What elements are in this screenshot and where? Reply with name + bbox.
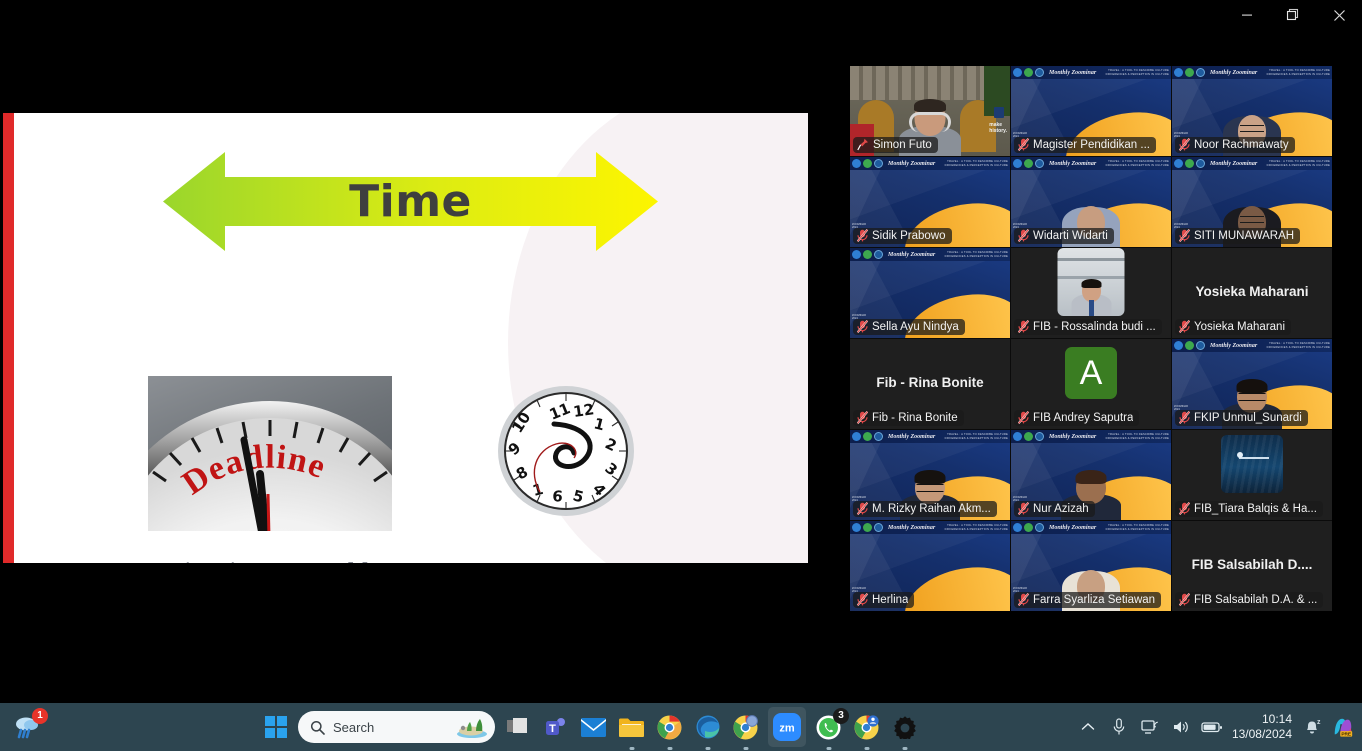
- participant-name-text: Yosieka Maharani: [1194, 321, 1285, 333]
- participant-name-label: Magister Pendidikan ...: [1014, 137, 1156, 153]
- participant-name-text: Widarti Widarti: [1033, 230, 1108, 242]
- participant-name-text: Herlina: [872, 594, 908, 606]
- virtual-bg-tagline: TRAVEL : A TOOL TO DESCRIBE CULTUREDIFFE…: [1267, 69, 1330, 76]
- mic-off-icon: [1179, 320, 1190, 333]
- chrome-account-icon[interactable]: [851, 712, 882, 743]
- mic-off-icon: [1018, 502, 1029, 515]
- participant-name-text: SITI MUNAWARAH: [1194, 230, 1294, 242]
- virtual-bg-title: Monthly Zoominar: [1210, 161, 1257, 167]
- participant-name-text: Noor Rachmawaty: [1194, 139, 1289, 151]
- participant-name-label: Sidik Prabowo: [853, 228, 952, 244]
- running-indicator: [902, 747, 907, 750]
- participant-name-label: FIB Andrey Saputra: [1014, 410, 1139, 426]
- svg-text:zm: zm: [779, 723, 795, 735]
- vbg-swoosh-orange: [897, 556, 1010, 611]
- file-explorer-icon[interactable]: [616, 712, 647, 743]
- participant-name-text: Magister Pendidikan ...: [1033, 139, 1150, 151]
- virtual-bg-logos: [1013, 159, 1044, 168]
- mail-icon[interactable]: [578, 712, 609, 743]
- whatsapp-icon[interactable]: 3: [813, 712, 844, 743]
- virtual-bg-logos: [852, 250, 883, 259]
- running-indicator: [826, 747, 831, 750]
- participant-name-text: FIB - Rossalinda budi ...: [1033, 321, 1156, 333]
- virtual-bg-header: Monthly Zoominar TRAVEL : A TOOL TO DESC…: [850, 521, 1010, 534]
- participant-name-label: M. Rizky Raihan Akm...: [853, 501, 997, 517]
- running-indicator: [667, 747, 672, 750]
- org-logo-icon-3: [1196, 159, 1205, 168]
- org-logo-icon-2: [863, 159, 872, 168]
- org-logo-icon-1: [852, 432, 861, 441]
- org-logo-icon-2: [1024, 432, 1033, 441]
- participant-tile[interactable]: ZOOMINAR2024 Monthly Zoominar TRAVEL : A…: [1011, 430, 1171, 520]
- virtual-bg-header: Monthly Zoominar TRAVEL : A TOOL TO DESC…: [1172, 157, 1332, 170]
- running-indicator: [743, 747, 748, 750]
- org-logo-icon-2: [863, 432, 872, 441]
- running-indicator: [864, 747, 869, 750]
- search-illustration-icon: [453, 715, 489, 739]
- mic-off-icon: [857, 411, 868, 424]
- svg-text:6: 6: [552, 487, 564, 506]
- org-logo-icon-2: [1024, 159, 1033, 168]
- org-logo-icon-2: [1185, 341, 1194, 350]
- taskbar-widgets: 1: [0, 703, 260, 751]
- virtual-bg-title: Monthly Zoominar: [888, 252, 935, 258]
- virtual-bg-title: Monthly Zoominar: [1049, 70, 1096, 76]
- virtual-bg-tagline: TRAVEL : A TOOL TO DESCRIBE CULTUREDIFFE…: [1106, 433, 1169, 440]
- virtual-bg-header: Monthly Zoominar TRAVEL : A TOOL TO DESC…: [1011, 430, 1171, 443]
- participant-name-label: Widarti Widarti: [1014, 228, 1114, 244]
- zoom-icon[interactable]: zm: [768, 707, 806, 747]
- chrome-profile-icon[interactable]: [730, 712, 761, 743]
- virtual-bg-title: Monthly Zoominar: [888, 161, 935, 167]
- mic-off-icon: [857, 593, 868, 606]
- virtual-bg-title: Monthly Zoominar: [1049, 434, 1096, 440]
- svg-text:PRE: PRE: [1341, 732, 1351, 738]
- slide-red-accent-bar: [3, 113, 14, 563]
- mic-off-icon: [1179, 411, 1190, 424]
- mic-off-icon: [857, 320, 868, 333]
- org-logo-icon-1: [1174, 341, 1183, 350]
- participant-tile[interactable]: FIB_Tiara Balqis & Ha...: [1172, 430, 1332, 520]
- org-logo-icon-3: [1035, 159, 1044, 168]
- chrome-icon[interactable]: [654, 712, 685, 743]
- virtual-bg-logos: [1174, 341, 1205, 350]
- participant-name-label: Farra Syarliza Setiawan: [1014, 592, 1161, 608]
- participant-avatar: A: [1065, 347, 1117, 399]
- mic-off-icon: [1018, 138, 1029, 151]
- participant-name-label: FIB Salsabilah D.A. & ...: [1175, 592, 1323, 608]
- org-logo-icon-2: [1024, 68, 1033, 77]
- weather-badge: 1: [32, 708, 48, 724]
- clock-date: 13/08/2024: [1232, 727, 1292, 742]
- edge-icon[interactable]: [692, 712, 723, 743]
- org-logo-icon-1: [852, 523, 861, 532]
- participant-display-name: Yosieka Maharani: [1172, 284, 1332, 299]
- system-tray: 10:14 13/08/2024 z PRE: [1077, 712, 1354, 742]
- participant-name-text: Sella Ayu Nindya: [872, 321, 959, 333]
- mic-off-icon: [857, 229, 868, 242]
- virtual-bg-title: Monthly Zoominar: [888, 434, 935, 440]
- org-logo-icon-1: [1013, 432, 1022, 441]
- participant-tile[interactable]: ZOOMINAR2024 Monthly Zoominar TRAVEL : A…: [1011, 521, 1171, 611]
- start-icon[interactable]: [260, 712, 291, 743]
- virtual-bg-tagline: TRAVEL : A TOOL TO DESCRIBE CULTUREDIFFE…: [945, 524, 1008, 531]
- restore-icon[interactable]: [1270, 1, 1316, 29]
- participant-tile[interactable]: ZOOMINAR2024 Monthly Zoominar TRAVEL : A…: [1011, 157, 1171, 247]
- virtual-bg-header: Monthly Zoominar TRAVEL : A TOOL TO DESC…: [850, 430, 1010, 443]
- virtual-bg-header: Monthly Zoominar TRAVEL : A TOOL TO DESC…: [1011, 521, 1171, 534]
- mic-off-icon: [857, 502, 868, 515]
- org-logo-icon-2: [863, 523, 872, 532]
- virtual-bg-logos: [852, 159, 883, 168]
- org-logo-icon-2: [1185, 159, 1194, 168]
- org-logo-icon-3: [874, 159, 883, 168]
- org-logo-icon-3: [874, 432, 883, 441]
- windows-taskbar: 1 Search: [0, 703, 1362, 751]
- virtual-bg-title: Monthly Zoominar: [1210, 70, 1257, 76]
- participant-tile[interactable]: ZOOMINAR2024 Monthly Zoominar TRAVEL : A…: [1011, 66, 1171, 156]
- org-logo-icon-3: [1196, 68, 1205, 77]
- virtual-bg-logos: [1174, 68, 1205, 77]
- participant-tile[interactable]: makehistory. Simon Futo: [850, 66, 1010, 156]
- svg-text:12: 12: [572, 400, 595, 421]
- virtual-bg-logos: [1013, 523, 1044, 532]
- settings-icon[interactable]: [889, 712, 920, 743]
- participant-tile[interactable]: ZOOMINAR2024 Monthly Zoominar TRAVEL : A…: [1172, 339, 1332, 429]
- participant-name-text: FIB Andrey Saputra: [1033, 412, 1133, 424]
- participant-tile[interactable]: FIB - Rossalinda budi ...: [1011, 248, 1171, 338]
- org-logo-icon-3: [1196, 341, 1205, 350]
- participant-tile[interactable]: FIB Salsabilah D.... FIB Salsabilah D.A.…: [1172, 521, 1332, 611]
- virtual-bg-header: Monthly Zoominar TRAVEL : A TOOL TO DESC…: [1011, 157, 1171, 170]
- participant-tile[interactable]: ZOOMINAR2024 Monthly Zoominar TRAVEL : A…: [1172, 157, 1332, 247]
- participant-name-label: Simon Futo: [853, 137, 938, 153]
- mic-off-icon: [1179, 229, 1190, 242]
- window-controls: [1210, 0, 1362, 30]
- virtual-bg-tagline: TRAVEL : A TOOL TO DESCRIBE CULTUREDIFFE…: [945, 251, 1008, 258]
- network-icon[interactable]: [1139, 716, 1161, 738]
- participant-name-text: Nur Azizah: [1033, 503, 1089, 515]
- participant-tile[interactable]: Fib - Rina Bonite Fib - Rina Bonite: [850, 339, 1010, 429]
- virtual-bg-header: Monthly Zoominar TRAVEL : A TOOL TO DESC…: [850, 157, 1010, 170]
- participant-tile[interactable]: Yosieka Maharani Yosieka Maharani: [1172, 248, 1332, 338]
- close-icon[interactable]: [1316, 1, 1362, 29]
- taskbar-app-icons: Search T: [260, 707, 920, 747]
- virtual-bg-title: Monthly Zoominar: [1049, 525, 1096, 531]
- org-logo-icon-1: [1013, 159, 1022, 168]
- notification-bell-icon[interactable]: z: [1301, 716, 1323, 738]
- virtual-bg-header: Monthly Zoominar TRAVEL : A TOOL TO DESC…: [1172, 339, 1332, 352]
- participant-name-text: FKIP Unmul_Sunardi: [1194, 412, 1302, 424]
- participant-tile[interactable]: ZOOMINAR2024 Monthly Zoominar TRAVEL : A…: [850, 430, 1010, 520]
- running-indicator: [629, 747, 634, 750]
- participant-name-label: Nur Azizah: [1014, 501, 1095, 517]
- org-logo-icon-1: [1013, 523, 1022, 532]
- org-logo-icon-2: [1024, 523, 1033, 532]
- microphone-icon[interactable]: [1108, 716, 1130, 738]
- virtual-bg-logos: [1013, 432, 1044, 441]
- participant-name-label: FKIP Unmul_Sunardi: [1175, 410, 1308, 426]
- participant-name-label: Herlina: [853, 592, 914, 608]
- caption-time-is-relative: Time is relative: [449, 561, 673, 563]
- battery-icon[interactable]: [1201, 716, 1223, 738]
- participant-name-text: Farra Syarliza Setiawan: [1033, 594, 1155, 606]
- participant-name-label: FIB - Rossalinda budi ...: [1014, 319, 1162, 335]
- virtual-bg-tagline: TRAVEL : A TOOL TO DESCRIBE CULTUREDIFFE…: [945, 433, 1008, 440]
- minimize-icon[interactable]: [1224, 1, 1270, 29]
- org-logo-icon-2: [1185, 68, 1194, 77]
- virtual-bg-header: Monthly Zoominar TRAVEL : A TOOL TO DESC…: [1011, 66, 1171, 79]
- participant-tile[interactable]: ZOOMINAR2024 Monthly Zoominar TRAVEL : A…: [850, 521, 1010, 611]
- org-logo-icon-3: [1035, 523, 1044, 532]
- time-arrow-graphic: Time: [163, 150, 658, 253]
- virtual-bg-tagline: TRAVEL : A TOOL TO DESCRIBE CULTUREDIFFE…: [1267, 342, 1330, 349]
- participant-name-label: Noor Rachmawaty: [1175, 137, 1295, 153]
- pin-icon: [857, 138, 869, 151]
- participant-tile[interactable]: ZOOMINAR2024 Monthly Zoominar TRAVEL : A…: [850, 157, 1010, 247]
- arrow-label: Time: [163, 150, 658, 253]
- copilot-pre-icon[interactable]: PRE: [1332, 716, 1354, 738]
- org-logo-icon-2: [863, 250, 872, 259]
- virtual-bg-tagline: TRAVEL : A TOOL TO DESCRIBE CULTUREDIFFE…: [1106, 160, 1169, 167]
- mic-off-icon: [1018, 320, 1029, 333]
- mic-off-icon: [1179, 502, 1190, 515]
- deadline-clock-image: Deadline: [148, 376, 392, 531]
- virtual-bg-tagline: TRAVEL : A TOOL TO DESCRIBE CULTUREDIFFE…: [1267, 160, 1330, 167]
- org-logo-icon-3: [874, 250, 883, 259]
- task-view-icon[interactable]: [502, 712, 533, 743]
- participant-name-text: Sidik Prabowo: [872, 230, 946, 242]
- video-feed: [1058, 248, 1125, 316]
- virtual-bg-title: Monthly Zoominar: [1049, 161, 1096, 167]
- participant-tile[interactable]: ZOOMINAR2024 Monthly Zoominar TRAVEL : A…: [850, 248, 1010, 338]
- participant-display-name: FIB Salsabilah D....: [1172, 557, 1332, 572]
- virtual-bg-logos: [1174, 159, 1205, 168]
- org-logo-icon-1: [1013, 68, 1022, 77]
- participant-name-label: Sella Ayu Nindya: [853, 319, 965, 335]
- show-hidden-icons-chevron[interactable]: [1077, 716, 1099, 738]
- virtual-bg-logos: [852, 523, 883, 532]
- clock-time: 10:14: [1232, 712, 1292, 727]
- search-icon: [310, 720, 325, 735]
- caption-time-is-manageable: Time is manageable: [163, 558, 385, 563]
- virtual-bg-logos: [1013, 68, 1044, 77]
- participant-tile[interactable]: ZOOMINAR2024 Monthly Zoominar TRAVEL : A…: [1172, 66, 1332, 156]
- weather-icon[interactable]: 1: [12, 712, 43, 743]
- org-logo-icon-3: [1035, 432, 1044, 441]
- org-logo-icon-1: [852, 159, 861, 168]
- whatsapp-badge: 3: [833, 708, 849, 724]
- shared-screen-area: Time: [0, 85, 808, 590]
- org-logo-icon-1: [852, 250, 861, 259]
- melting-clock-image: 11 12 1 2 3 4 5 6 1 8 9 10: [492, 384, 640, 519]
- participant-name-label: SITI MUNAWARAH: [1175, 228, 1300, 244]
- video-feed: [1221, 435, 1283, 493]
- participant-name-text: FIB Salsabilah D.A. & ...: [1194, 594, 1317, 606]
- participant-name-text: M. Rizky Raihan Akm...: [872, 503, 991, 515]
- desktop-screen: Time: [0, 0, 1362, 751]
- org-logo-icon-3: [874, 523, 883, 532]
- org-logo-icon-1: [1174, 68, 1183, 77]
- mic-off-icon: [1179, 593, 1190, 606]
- teams-icon[interactable]: T: [540, 712, 571, 743]
- virtual-bg-title: Monthly Zoominar: [888, 525, 935, 531]
- search-input[interactable]: Search: [333, 720, 445, 735]
- participant-display-name: Fib - Rina Bonite: [850, 375, 1010, 390]
- mic-off-icon: [1018, 411, 1029, 424]
- presentation-slide: Time: [3, 113, 808, 563]
- virtual-bg-tagline: TRAVEL : A TOOL TO DESCRIBE CULTUREDIFFE…: [1106, 524, 1169, 531]
- taskbar-clock[interactable]: 10:14 13/08/2024: [1232, 712, 1292, 742]
- mic-off-icon: [1018, 229, 1029, 242]
- participant-name-text: FIB_Tiara Balqis & Ha...: [1194, 503, 1317, 515]
- search-box[interactable]: Search: [298, 711, 495, 743]
- participant-video-grid: makehistory. Simon Futo ZOOMINAR2024 Mon…: [850, 66, 1332, 606]
- running-indicator: [705, 747, 710, 750]
- virtual-bg-header: Monthly Zoominar TRAVEL : A TOOL TO DESC…: [1172, 66, 1332, 79]
- participant-name-text: Simon Futo: [873, 139, 932, 151]
- volume-icon[interactable]: [1170, 716, 1192, 738]
- org-logo-icon-3: [1035, 68, 1044, 77]
- svg-text:T: T: [549, 723, 556, 735]
- virtual-bg-header: Monthly Zoominar TRAVEL : A TOOL TO DESC…: [850, 248, 1010, 261]
- participant-tile[interactable]: A FIB Andrey Saputra: [1011, 339, 1171, 429]
- virtual-bg-tagline: TRAVEL : A TOOL TO DESCRIBE CULTUREDIFFE…: [945, 160, 1008, 167]
- participant-name-label: FIB_Tiara Balqis & Ha...: [1175, 501, 1323, 517]
- participant-name-label: Fib - Rina Bonite: [853, 410, 964, 426]
- participant-name-label: Yosieka Maharani: [1175, 319, 1291, 335]
- mic-off-icon: [1018, 593, 1029, 606]
- org-logo-icon-1: [1174, 159, 1183, 168]
- participant-name-text: Fib - Rina Bonite: [872, 412, 958, 424]
- virtual-bg-logos: [852, 432, 883, 441]
- virtual-bg-title: Monthly Zoominar: [1210, 343, 1257, 349]
- virtual-bg-tagline: TRAVEL : A TOOL TO DESCRIBE CULTUREDIFFE…: [1106, 69, 1169, 76]
- svg-text:z: z: [1317, 719, 1321, 726]
- mic-off-icon: [1179, 138, 1190, 151]
